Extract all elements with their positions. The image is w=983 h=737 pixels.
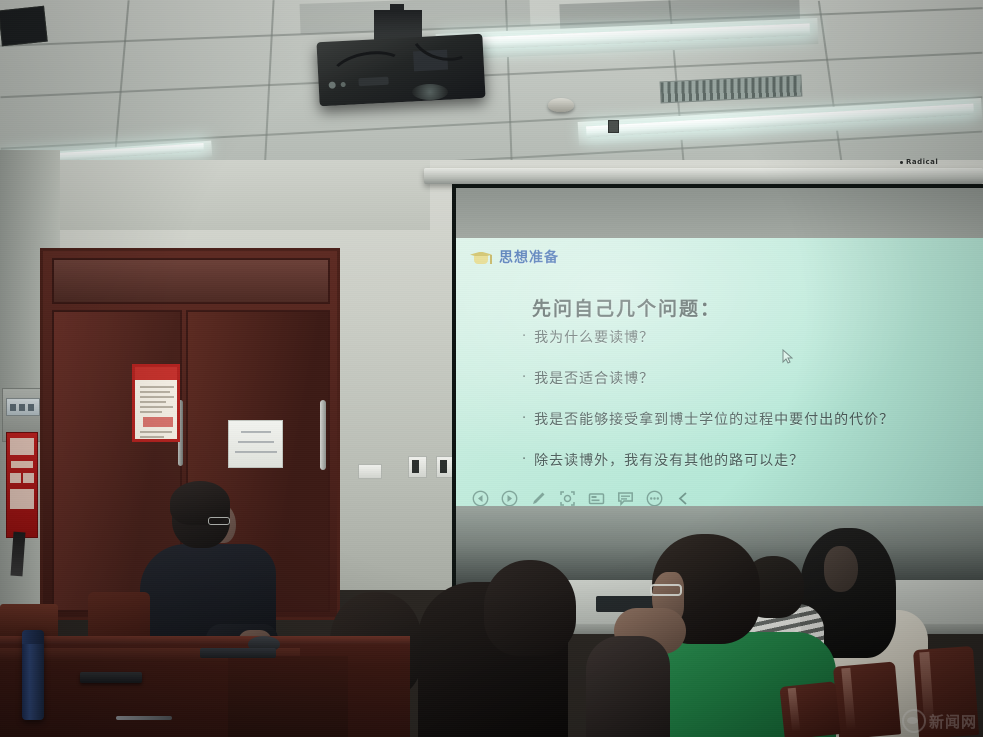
bullet-marker: · <box>522 330 526 344</box>
news-logo-icon <box>902 709 926 733</box>
collapse-toolbar-button[interactable] <box>675 490 692 506</box>
previous-slide-button[interactable] <box>472 490 489 506</box>
slide-title: 先问自己几个问题： <box>532 294 721 321</box>
bullet-text: 除去读博外，我有没有其他的路可以走？ <box>534 453 804 469</box>
ceiling-corner-fixture <box>0 6 48 47</box>
table-right-section <box>228 656 348 737</box>
thermos-cap <box>22 630 44 644</box>
spotlight-button[interactable] <box>559 490 576 506</box>
screen-brand-text: Radical <box>906 158 938 166</box>
slide-section-label: 思想准备 <box>499 247 559 267</box>
smartphone-on-table[interactable] <box>80 672 142 683</box>
table-front-edge <box>0 636 410 644</box>
slide-bullet-list: · 我为什么要读博？ · 我是否适合读博？ · 我是否能够接受拿到博士学位的过程… <box>522 330 971 494</box>
bullet-text: 我是否适合读博？ <box>534 371 654 387</box>
slide-section-header: 思想准备 <box>470 247 559 267</box>
projector-lens <box>412 84 448 100</box>
bullet-marker: · <box>522 453 526 467</box>
audience-green-glasses <box>650 584 682 596</box>
slide-bullet-item: · 我是否适合读博？ <box>522 371 971 387</box>
speaker-glasses <box>208 517 230 525</box>
door-transom-glass <box>52 258 330 304</box>
next-slide-button[interactable] <box>501 490 518 506</box>
fire-safety-box <box>6 432 38 538</box>
smartphone-back[interactable] <box>200 648 276 658</box>
more-options-button[interactable] <box>646 490 663 506</box>
screen-letterbox-top <box>456 188 983 240</box>
ceiling-smoke-detector <box>548 98 574 112</box>
bullet-marker: · <box>522 412 526 426</box>
white-paper-sign <box>228 420 283 468</box>
watermark: 新闻网 <box>902 709 977 733</box>
screen-brand-label: Radical <box>900 158 938 166</box>
audience-member-far-left <box>586 636 670 737</box>
presenter-view-button[interactable] <box>588 490 605 506</box>
door-handle-right[interactable] <box>320 400 326 470</box>
projection-screen-housing <box>424 168 983 184</box>
bullet-text: 我为什么要读博？ <box>534 330 654 346</box>
presentation-toolbar[interactable] <box>466 488 698 506</box>
audience-member-front-center-head <box>484 560 576 656</box>
mouse-pointer-icon <box>782 349 793 364</box>
classroom-photo-scene: Radical 思想准备 先问自己几个问题： · 我为什么要读博？ · 我是否适… <box>0 0 983 737</box>
slide-bullet-item: · 除去读博外，我有没有其他的路可以走？ <box>522 453 971 469</box>
ceiling <box>0 0 983 172</box>
notes-button[interactable] <box>617 490 634 506</box>
red-bordered-notice-poster <box>132 364 180 442</box>
slide-bullet-item: · 我为什么要读博？ <box>522 330 971 346</box>
ceiling-air-vent <box>660 75 803 104</box>
electrical-panel-window <box>6 398 40 416</box>
wall-outlet-1[interactable] <box>408 456 427 478</box>
watermark-text: 新闻网 <box>929 711 977 732</box>
presentation-slide[interactable]: 思想准备 先问自己几个问题： · 我为什么要读博？ · 我是否适合读博？ · 我… <box>456 238 983 506</box>
slide-bullet-item: · 我是否能够接受拿到博士学位的过程中要付出的代价？ <box>522 412 971 428</box>
graduation-cap-icon <box>470 250 492 265</box>
bullet-marker: · <box>522 371 526 385</box>
ceiling-sensor-box <box>608 120 619 133</box>
upper-wall-strip <box>0 160 430 230</box>
pen-tool-button[interactable] <box>530 490 547 506</box>
pen-on-table[interactable] <box>116 716 172 720</box>
bullet-text: 我是否能够接受拿到博士学位的过程中要付出的代价？ <box>534 412 894 428</box>
wall-light-switch[interactable] <box>358 464 382 479</box>
